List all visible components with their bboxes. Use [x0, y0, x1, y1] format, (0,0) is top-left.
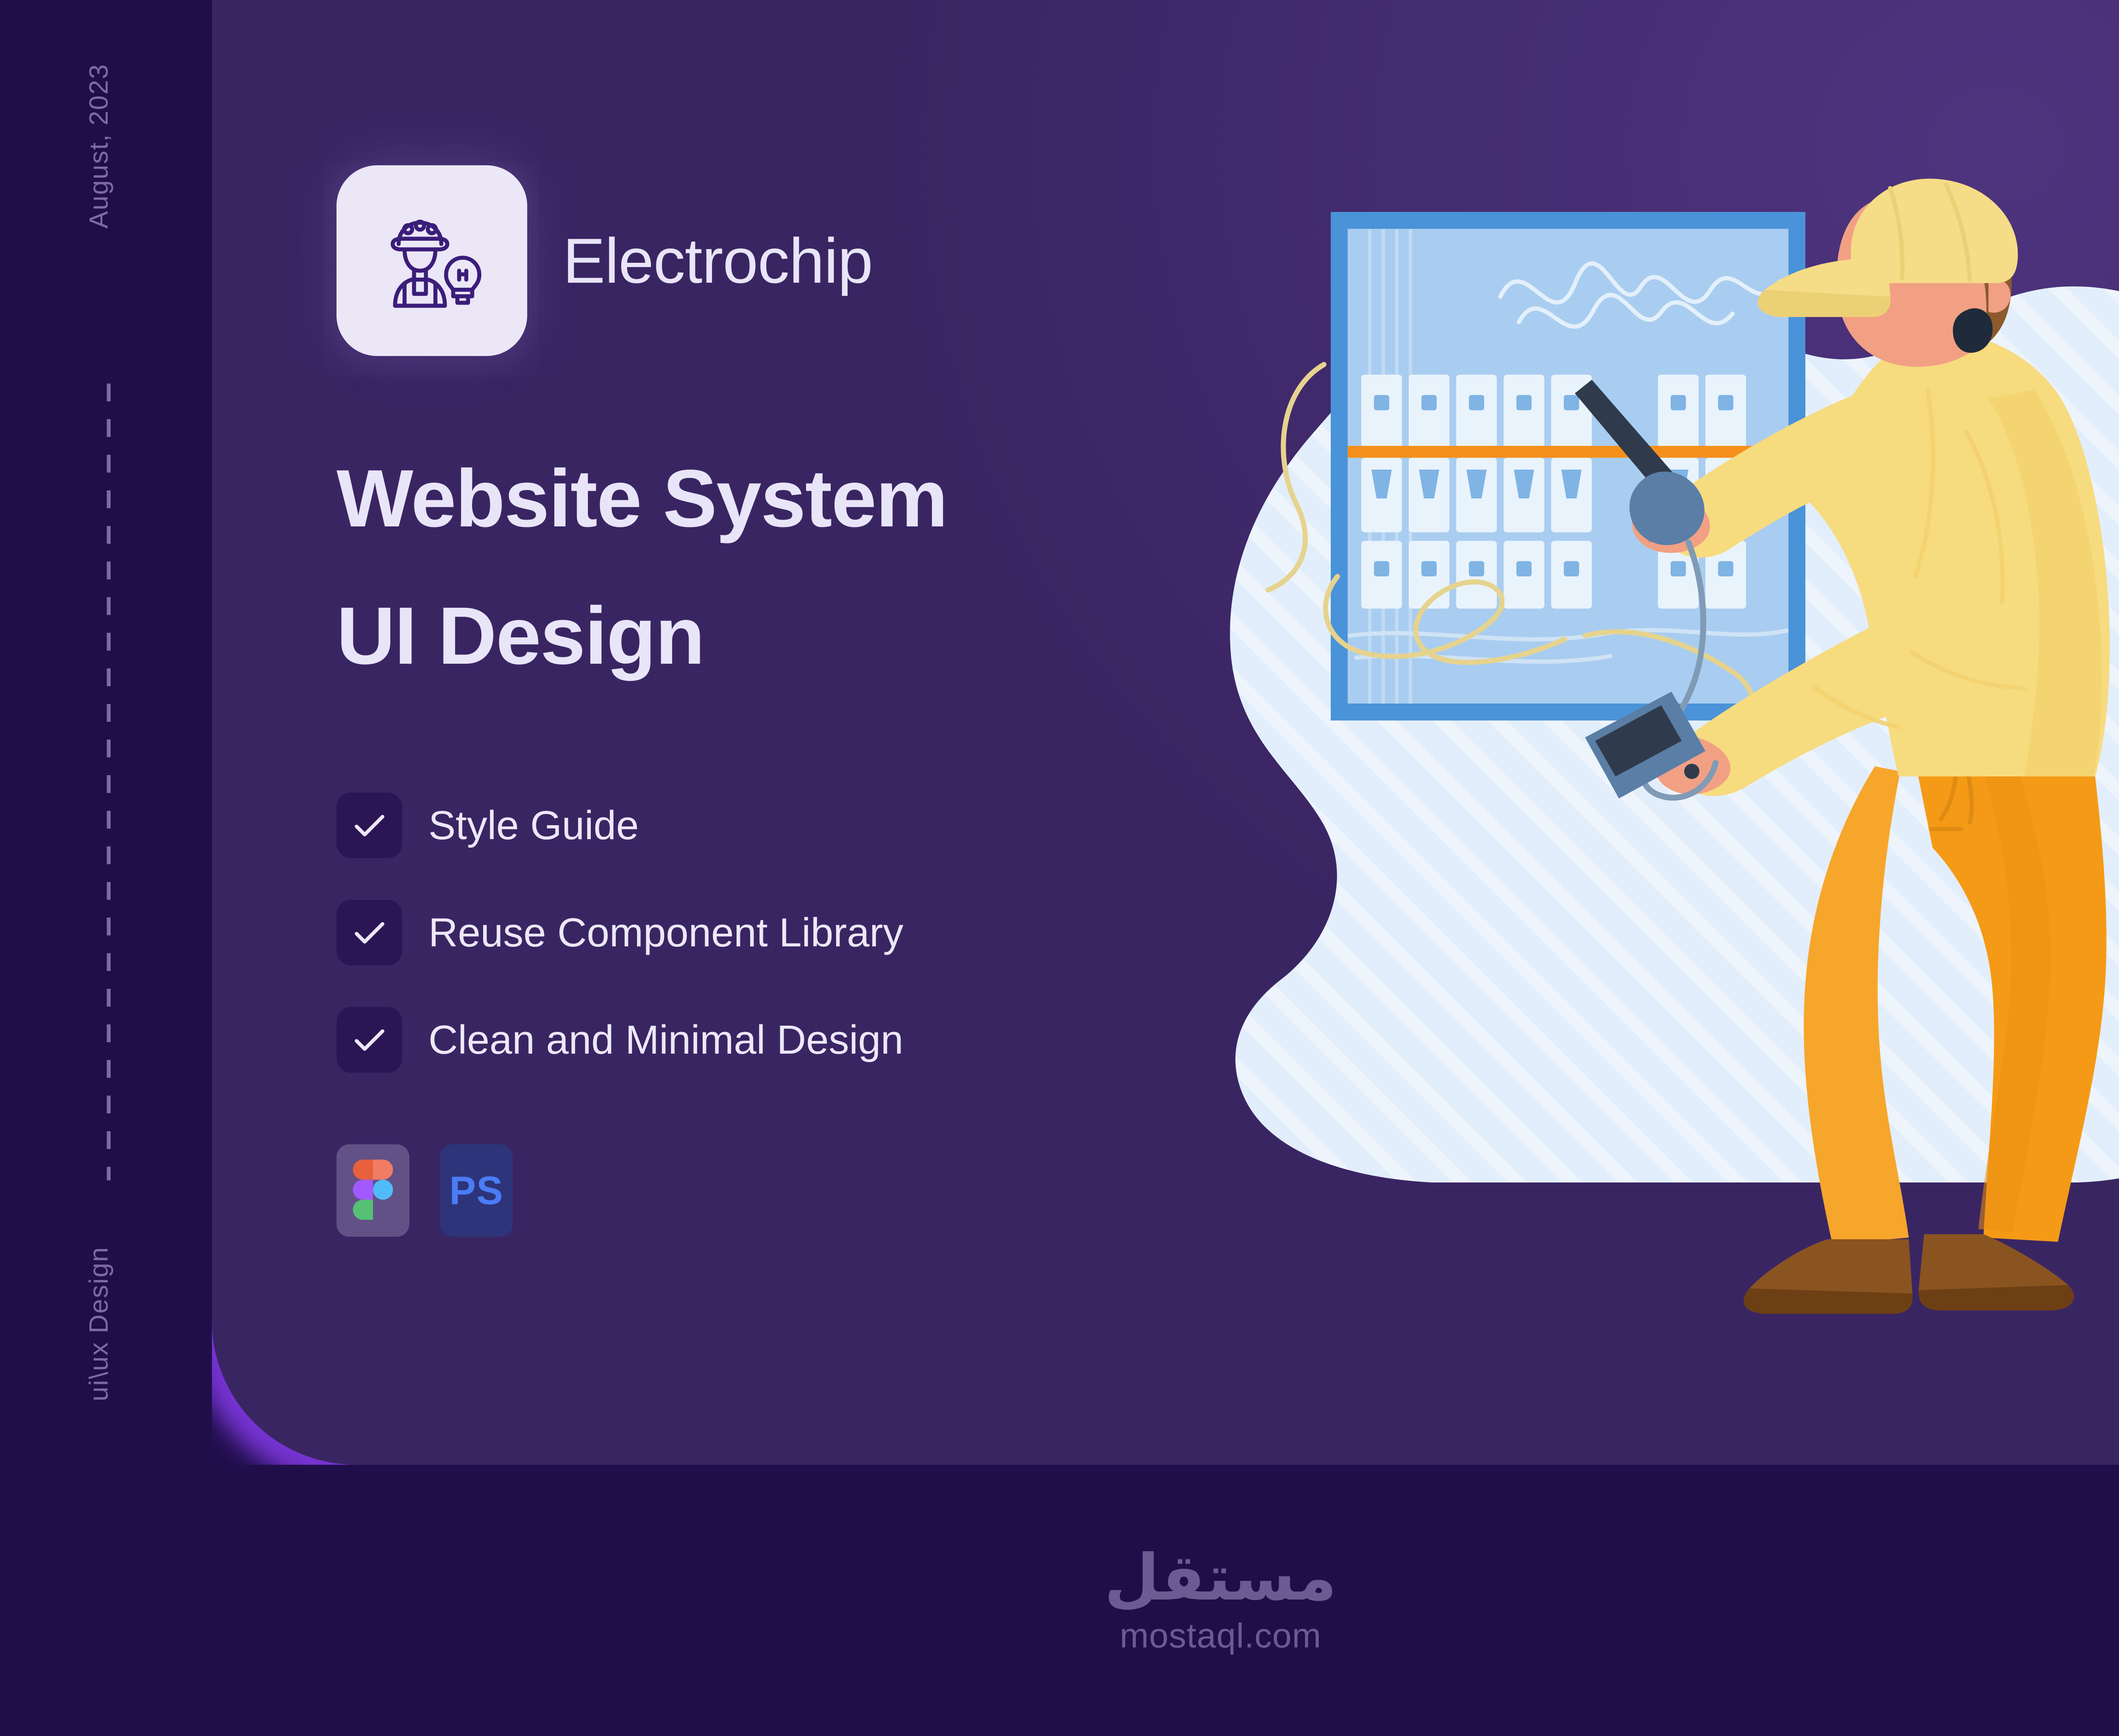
figma-badge[interactable] [336, 1144, 409, 1237]
checklist-item-label: Style Guide [428, 802, 639, 849]
headline-line-2: UI Design [336, 595, 1142, 676]
feature-checklist: Style Guide Reuse Component Library Clea… [336, 793, 904, 1073]
checklist-item-label: Reuse Component Library [428, 910, 904, 956]
checklist-item-label: Clean and Minimal Design [428, 1017, 904, 1063]
check-icon [336, 1007, 402, 1073]
brand-name: Electrochip [563, 229, 873, 292]
poster-canvas: August, 2023 ui\ux Design [0, 0, 2119, 1736]
photoshop-label: PS [449, 1168, 503, 1213]
brand-row: Electrochip [336, 165, 873, 356]
hero-illustration [1221, 178, 2119, 1339]
figma-icon [353, 1160, 393, 1222]
checklist-item[interactable]: Clean and Minimal Design [336, 1007, 904, 1073]
mostaql-arabic-wordmark: مستقل [1104, 1545, 1337, 1612]
page-title: Website System UI Design [336, 458, 1142, 676]
footer: مستقل mostaql.com [0, 1465, 2119, 1736]
electrician-worker-bulb-icon [373, 201, 491, 320]
rail-dashed-divider [107, 384, 111, 1180]
role-label: ui\ux Design [84, 1246, 114, 1401]
orange-busbar [1348, 446, 1788, 458]
check-icon [336, 900, 402, 965]
photoshop-badge[interactable]: PS [440, 1144, 513, 1237]
date-label: August, 2023 [84, 64, 114, 228]
boot-brown [1744, 1234, 2074, 1314]
headline-line-1: Website System [336, 458, 1142, 539]
check-icon [336, 793, 402, 858]
checklist-item[interactable]: Reuse Component Library [336, 900, 904, 965]
tool-badges: PS [336, 1144, 513, 1237]
checklist-item[interactable]: Style Guide [336, 793, 904, 858]
mostaql-url: mostaql.com [1120, 1616, 1321, 1656]
app-logo-tile [336, 165, 527, 356]
content-column: Electrochip Website System UI Design Sty… [127, 0, 1102, 1465]
